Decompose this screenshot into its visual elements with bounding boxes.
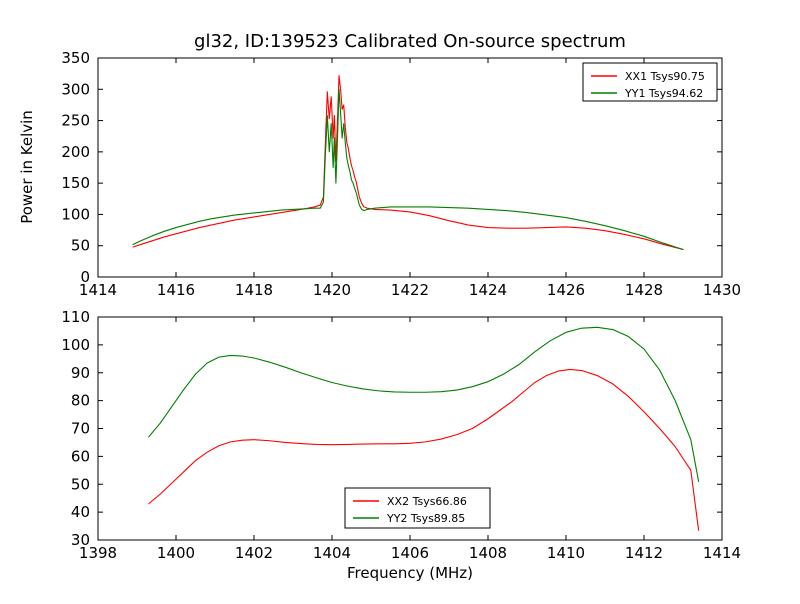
bottom-x-tick-label: 1400 bbox=[157, 544, 195, 562]
page-title: gl32, ID:139523 Calibrated On-source spe… bbox=[194, 31, 626, 52]
top-y-tick-label: 0 bbox=[80, 268, 90, 286]
legend-entry-label: YY2 Tsys89.85 bbox=[386, 512, 465, 525]
bottom-x-tick-label: 1404 bbox=[313, 544, 351, 562]
top-panel-y-axis-label: Power in Kelvin bbox=[18, 110, 36, 224]
top-y-tick-label: 350 bbox=[61, 49, 90, 67]
top-x-tick-label: 1422 bbox=[391, 281, 429, 299]
bottom-y-tick-label: 110 bbox=[61, 308, 90, 326]
top-y-tick-label: 300 bbox=[61, 80, 90, 98]
bottom-y-tick-label: 70 bbox=[71, 420, 90, 438]
top-y-tick-label: 200 bbox=[61, 143, 90, 161]
bottom-panel-x-axis-label: Frequency (MHz) bbox=[347, 564, 473, 582]
top-y-tick-label: 150 bbox=[61, 174, 90, 192]
bottom-x-tick-label: 1412 bbox=[625, 544, 663, 562]
bottom-y-tick-label: 50 bbox=[71, 475, 90, 493]
figure-canvas: gl32, ID:139523 Calibrated On-source spe… bbox=[0, 0, 800, 600]
bottom-y-tick-label: 40 bbox=[71, 503, 90, 521]
top-x-tick-label: 1424 bbox=[469, 281, 507, 299]
top-x-tick-label: 1428 bbox=[625, 281, 663, 299]
bottom-y-tick-label: 90 bbox=[71, 364, 90, 382]
bottom-y-tick-label: 60 bbox=[71, 447, 90, 465]
top-y-tick-label: 250 bbox=[61, 112, 90, 130]
top-panel-legend[interactable]: XX1 Tsys90.75YY1 Tsys94.62 bbox=[583, 63, 717, 101]
top-y-tick-label: 50 bbox=[71, 237, 90, 255]
legend-entry-label: YY1 Tsys94.62 bbox=[624, 87, 703, 100]
legend-entry-label: XX2 Tsys66.86 bbox=[387, 495, 467, 508]
bottom-x-tick-label: 1408 bbox=[469, 544, 507, 562]
bottom-x-tick-label: 1406 bbox=[391, 544, 429, 562]
bottom-x-tick-label: 1410 bbox=[547, 544, 585, 562]
bottom-y-tick-label: 100 bbox=[61, 336, 90, 354]
bottom-x-tick-label: 1402 bbox=[235, 544, 273, 562]
top-x-tick-label: 1430 bbox=[703, 281, 741, 299]
top-y-tick-label: 100 bbox=[61, 205, 90, 223]
top-x-tick-label: 1416 bbox=[157, 281, 195, 299]
bottom-y-tick-label: 80 bbox=[71, 392, 90, 410]
bottom-x-tick-label: 1414 bbox=[703, 544, 741, 562]
legend-entry-label: XX1 Tsys90.75 bbox=[625, 70, 705, 83]
bottom-panel-legend[interactable]: XX2 Tsys66.86YY2 Tsys89.85 bbox=[345, 488, 490, 528]
top-x-tick-label: 1418 bbox=[235, 281, 273, 299]
top-x-tick-label: 1420 bbox=[313, 281, 351, 299]
top-x-tick-label: 1426 bbox=[547, 281, 585, 299]
bottom-y-tick-label: 30 bbox=[71, 531, 90, 549]
